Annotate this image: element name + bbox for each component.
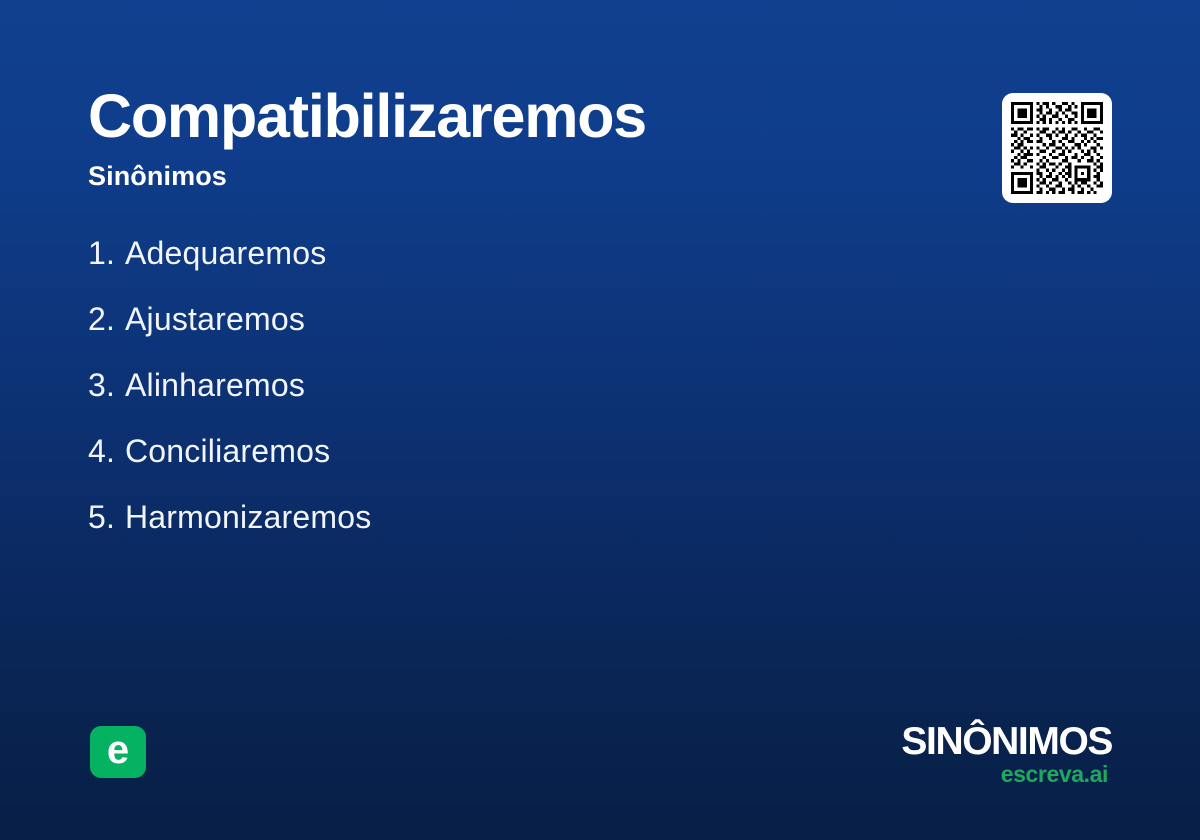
synonym-list: 1.Adequaremos2.Ajustaremos3.Alinharemos4… — [88, 237, 888, 567]
synonym-label: Conciliaremos — [125, 435, 330, 467]
synonym-index: 3. — [88, 369, 125, 401]
footer-logo[interactable]: SINÔNIMOS escreva.ai — [901, 722, 1112, 786]
qr-code-card[interactable] — [1002, 93, 1112, 203]
synonym-index: 4. — [88, 435, 125, 467]
synonym-list-item: 3.Alinharemos — [88, 369, 888, 435]
brand-badge-letter: e — [107, 730, 129, 770]
synonym-card: Compatibilizaremos Sinônimos 1.Adequarem… — [0, 0, 1200, 840]
synonym-list-item: 1.Adequaremos — [88, 237, 888, 303]
page-subtitle: Sinônimos — [88, 163, 948, 190]
synonym-index: 2. — [88, 303, 125, 335]
synonym-index: 5. — [88, 501, 125, 533]
synonym-label: Adequaremos — [125, 237, 326, 269]
qr-code-icon — [1011, 102, 1103, 194]
synonym-label: Alinharemos — [125, 369, 305, 401]
title-block: Compatibilizaremos Sinônimos — [88, 86, 948, 190]
footer-logo-title: SINÔNIMOS — [901, 722, 1112, 761]
synonym-list-item: 5.Harmonizaremos — [88, 501, 888, 567]
page-title: Compatibilizaremos — [88, 86, 948, 147]
synonym-label: Harmonizaremos — [125, 501, 371, 533]
escreva-brand-badge[interactable]: e — [90, 726, 146, 778]
synonym-index: 1. — [88, 237, 125, 269]
footer-logo-subtitle: escreva.ai — [901, 763, 1108, 786]
synonym-list-item: 4.Conciliaremos — [88, 435, 888, 501]
synonym-list-item: 2.Ajustaremos — [88, 303, 888, 369]
synonym-label: Ajustaremos — [125, 303, 305, 335]
